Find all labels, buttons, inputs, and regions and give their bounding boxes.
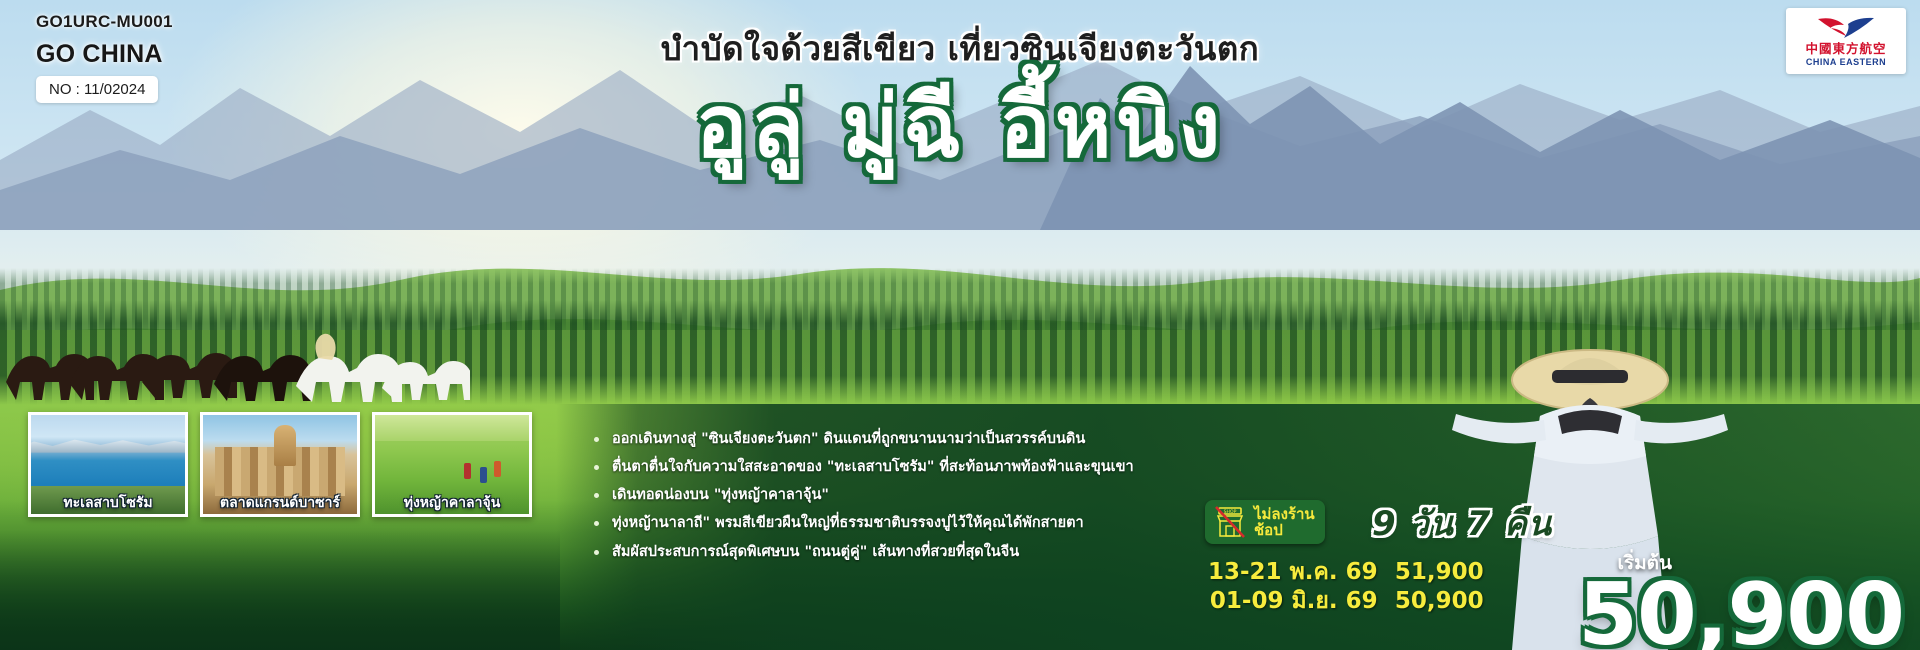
thumbnail-caption: ทะเลสาบโซรัม bbox=[28, 492, 188, 514]
no-shopping-line1: ไม่ลงร้าน bbox=[1254, 506, 1315, 522]
thumbnail-item: ทะเลสาบโซรัม bbox=[28, 412, 188, 517]
thumbnail-item: ตลาดแกรนด์บาซาร์ bbox=[200, 412, 360, 517]
page-title: อูลู่ มู่ฉี อี้หนิง bbox=[0, 78, 1920, 177]
list-item: ตื่นตาตื่นใจกับความใสสะอาดของ "ทะเลสาบโซ… bbox=[590, 458, 1190, 477]
no-shopping-line2: ช้อป bbox=[1254, 522, 1315, 538]
headline-price: 50,900 bbox=[1578, 572, 1904, 650]
no-shopping-label: ไม่ลงร้าน ช้อป bbox=[1254, 506, 1315, 538]
running-horses-illustration bbox=[0, 300, 470, 410]
list-item: ทุ่งหญ้านาลาถี" พรมสีเขียวผืนใหญ่ที่ธรรม… bbox=[590, 514, 1190, 533]
list-item: สัมผัสประสบการณ์สุดพิเศษบน "ถนนตู่คู่" เ… bbox=[590, 543, 1190, 562]
list-item: เดินทอดน่องบน "ทุ่งหญ้าคาลาจุ้น" bbox=[590, 486, 1190, 505]
departure-row: 01-09 มิ.ย. 69 50,900 bbox=[1208, 587, 1484, 616]
thumbnail-strip: ทะเลสาบโซรัม ตลาดแกรนด์บาซาร์ ทุ่งหญ้าคา… bbox=[28, 412, 532, 517]
no-shopping-icon: SHOP bbox=[1213, 505, 1247, 539]
no-shopping-badge: SHOP ไม่ลงร้าน ช้อป bbox=[1205, 500, 1325, 544]
thumbnail-caption: ทุ่งหญ้าคาลาจุ้น bbox=[372, 492, 532, 514]
departure-date: 01-09 มิ.ย. 69 bbox=[1210, 587, 1378, 616]
departure-date: 13-21 พ.ค. 69 bbox=[1208, 558, 1378, 587]
departure-price: 50,900 bbox=[1392, 587, 1484, 616]
thumbnail-caption: ตลาดแกรนด์บาซาร์ bbox=[200, 492, 360, 514]
thumbnail-item: ทุ่งหญ้าคาลาจุ้น bbox=[372, 412, 532, 517]
subtitle: บำบัดใจด้วยสีเขียว เที่ยวซินเจียงตะวันตก bbox=[0, 22, 1920, 75]
list-item: ออกเดินทางสู่ "ซินเจียงตะวันตก" ดินแดนที… bbox=[590, 430, 1190, 449]
trip-duration: 9 วัน 7 คืน bbox=[1372, 496, 1552, 550]
highlights-list: ออกเดินทางสู่ "ซินเจียงตะวันตก" ดินแดนที… bbox=[590, 430, 1190, 571]
departure-row: 13-21 พ.ค. 69 51,900 bbox=[1208, 558, 1484, 587]
travel-brochure-banner: GO1URC-MU001 GO CHINA NO : 11/02024 中國東方… bbox=[0, 0, 1920, 650]
svg-text:SHOP: SHOP bbox=[1224, 509, 1237, 515]
left-bottom-vignette bbox=[0, 530, 560, 650]
departure-price: 51,900 bbox=[1392, 558, 1484, 587]
departure-dates: 13-21 พ.ค. 69 51,900 01-09 มิ.ย. 69 50,9… bbox=[1208, 558, 1484, 617]
